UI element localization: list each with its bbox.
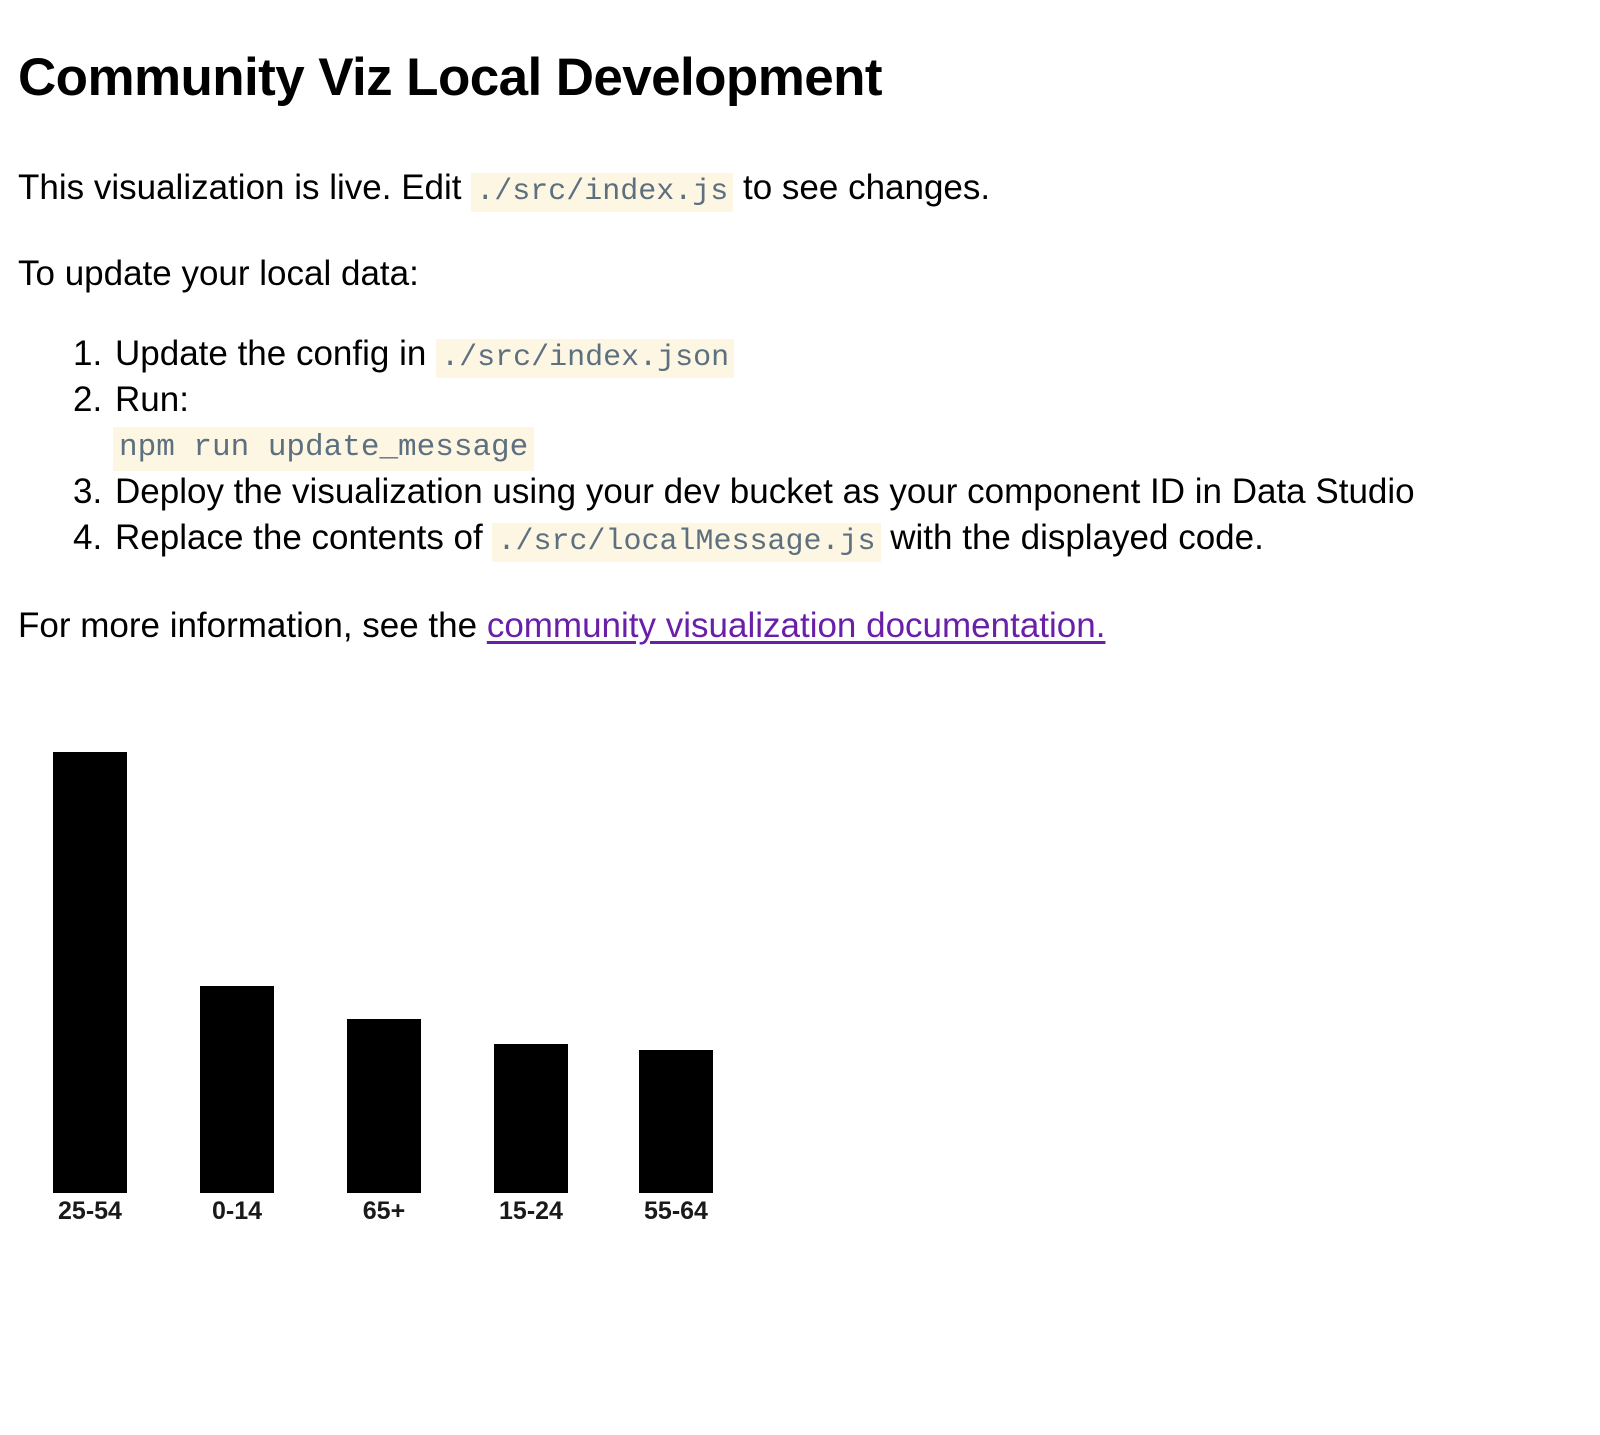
step-text-before: Replace the contents of xyxy=(115,518,492,557)
step-text-before: Update the config in xyxy=(115,334,436,373)
bar-0-14 xyxy=(200,986,274,1193)
list-item: 3.Deploy the visualization using your de… xyxy=(73,470,1415,514)
list-item: 1.Update the config in ./src/index.json xyxy=(73,332,734,380)
bar-chart-svg: 25-540-1465+15-2455-64 xyxy=(0,0,1600,1435)
x-tick-label-55-64: 55-64 xyxy=(644,1197,708,1225)
bar-25-54 xyxy=(53,752,127,1193)
step-number: 3. xyxy=(73,470,115,514)
x-tick-label-15-24: 15-24 xyxy=(499,1197,563,1225)
step-text-before: Run: xyxy=(115,380,189,419)
command-code-block: npm run update_message xyxy=(113,427,534,471)
x-axis-tick-labels: 25-540-1465+15-2455-64 xyxy=(58,1197,708,1225)
step-number: 1. xyxy=(73,332,115,376)
intro-paragraph: This visualization is live. Edit ./src/i… xyxy=(18,166,990,214)
inline-code-index-json: ./src/index.json xyxy=(436,339,734,378)
x-tick-label-25-54: 25-54 xyxy=(58,1197,122,1225)
intro-text-after: to see changes. xyxy=(733,168,990,207)
community-visualization-documentation-link[interactable]: community visualization documentation. xyxy=(487,606,1106,645)
bar-65+ xyxy=(347,1019,421,1193)
inline-code-index-js: ./src/index.js xyxy=(471,173,733,212)
page-root: Community Viz Local Development This vis… xyxy=(0,0,1600,1435)
footer-paragraph: For more information, see the community … xyxy=(18,604,1105,648)
step-number: 4. xyxy=(73,516,115,560)
page-title: Community Viz Local Development xyxy=(18,47,882,109)
footer-text-before: For more information, see the xyxy=(18,606,487,645)
bar-chart: 25-540-1465+15-2455-64 xyxy=(0,0,1600,1435)
step-text-after: with the displayed code. xyxy=(881,518,1264,557)
bar-15-24 xyxy=(494,1044,568,1193)
bars-group xyxy=(53,752,713,1193)
bar-55-64 xyxy=(639,1050,713,1193)
step-number: 2. xyxy=(73,378,115,422)
step-text-before: Deploy the visualization using your dev … xyxy=(115,472,1415,511)
x-tick-label-0-14: 0-14 xyxy=(212,1197,262,1225)
x-tick-label-65+: 65+ xyxy=(363,1197,405,1225)
intro-text-before: This visualization is live. Edit xyxy=(18,168,471,207)
list-item: 2.Run: xyxy=(73,378,189,422)
list-item: 4.Replace the contents of ./src/localMes… xyxy=(73,516,1264,564)
update-data-heading: To update your local data: xyxy=(18,252,419,296)
inline-code-localmessage-js: ./src/localMessage.js xyxy=(492,523,880,562)
